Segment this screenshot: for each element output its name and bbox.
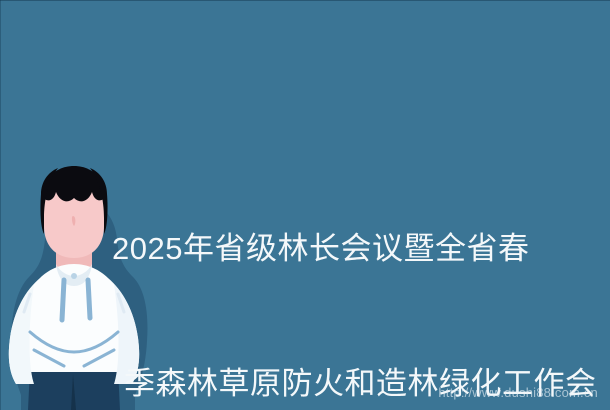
- poster-canvas: 2025年省级林长会议暨全省春 季森林草原防火和造林绿化工作会 http://w…: [0, 0, 610, 410]
- headline-title: 2025年省级林长会议暨全省春 季森林草原防火和造林绿化工作会: [112, 136, 598, 410]
- headline-line-1: 2025年省级林长会议暨全省春: [112, 226, 598, 271]
- hood-eyelet: [71, 273, 77, 279]
- watermark-url: http://www.dushi88.com.cn: [438, 385, 598, 400]
- trousers-shape: [28, 368, 120, 410]
